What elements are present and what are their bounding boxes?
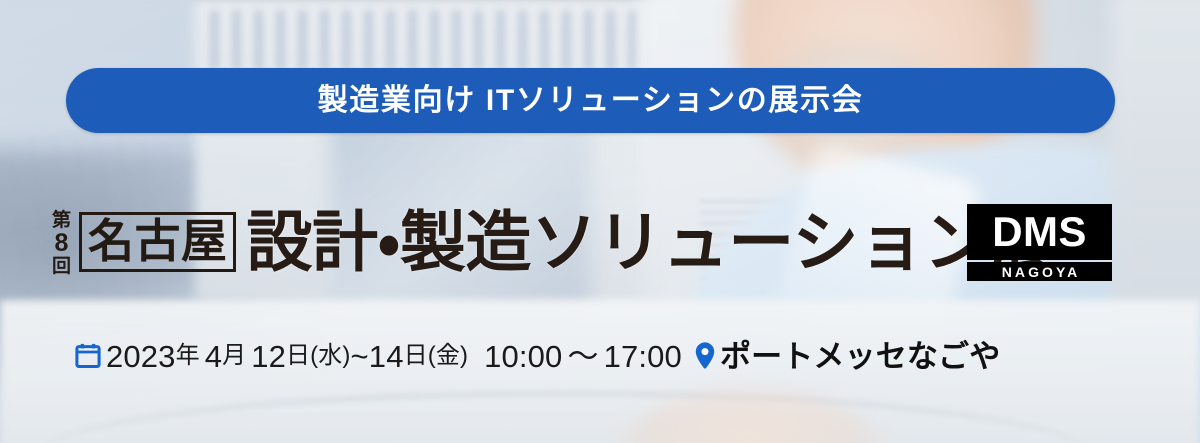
event-date-month-unit: 月 [222,344,246,368]
page-title: 設計・製造ソリューション展 [246,209,1055,275]
event-banner: 製造業向け ITソリューションの展示会 第 8 回 名古屋 設計・製造ソリューシ… [0,0,1200,443]
city-badge: 名古屋 [79,212,236,272]
banner-content: 製造業向け ITソリューションの展示会 第 8 回 名古屋 設計・製造ソリューシ… [0,0,1200,443]
edition-value: 8 [55,231,69,256]
event-date-day-unit: 日 [286,344,310,368]
dms-logo-mark-box: DMS [967,204,1112,260]
edition-prefix: 第 [52,211,71,230]
dms-logo: DMS NAGOYA [967,204,1112,281]
event-venue: ポートメッセなごや [720,341,1000,372]
event-date-end-weekday: (金) [428,344,468,368]
city-label: 名古屋 [88,215,227,267]
event-date-end-day-unit: 日 [404,344,428,368]
event-date-month: 4 [205,341,222,372]
edition-suffix: 回 [52,257,71,276]
event-time-separator: ～ [567,341,598,372]
event-date-end-day: 14 [369,341,404,372]
dms-logo-sub-box: NAGOYA [967,262,1112,281]
dms-logo-mark: DMS [992,211,1087,253]
map-pin-icon [692,341,718,371]
title-row: 第 8 回 名古屋 設計・製造ソリューション展 [52,196,1055,288]
dms-logo-sub: NAGOYA [999,265,1081,279]
event-date-year: 2023 [106,341,176,372]
event-time-end: 17:00 [604,341,682,372]
tagline-text: 製造業向け ITソリューションの展示会 [318,86,864,116]
calendar-icon [74,342,102,370]
event-date-start-weekday: (水) [310,344,350,368]
event-time-start: 10:00 [484,341,562,372]
event-date-year-unit: 年 [176,344,200,368]
edition-number: 第 8 回 [52,211,71,276]
tagline-pill: 製造業向け ITソリューションの展示会 [66,68,1115,133]
event-date-start-day: 12 [251,341,286,372]
event-date-range: ~ [351,341,369,372]
event-info: 2023 年 4 月 12 日 (水) ~ 14 日 (金) 10:00 ～ 1… [74,334,1000,378]
